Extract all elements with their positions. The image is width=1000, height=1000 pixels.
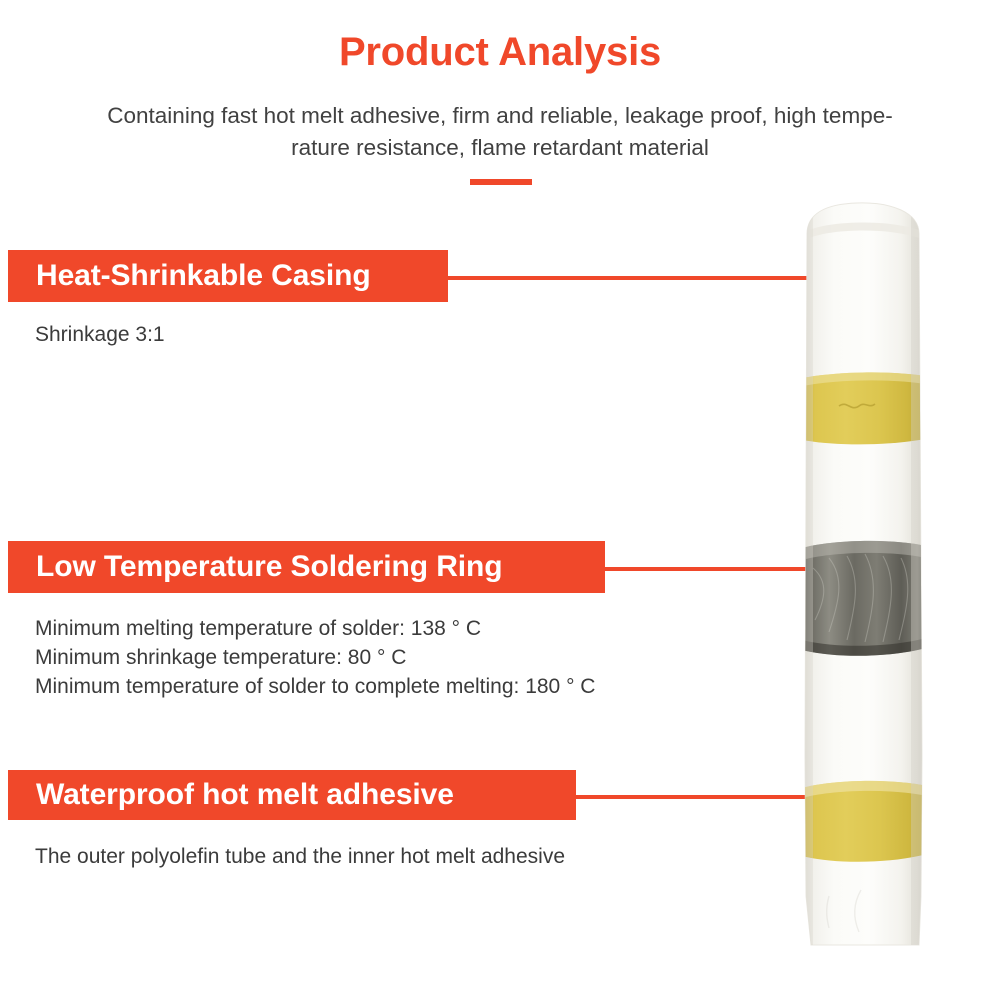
page-title: Product Analysis [0, 27, 1000, 77]
divider-bar [470, 179, 532, 185]
connector-line-casing [448, 276, 848, 280]
callout-label-low-temperature-soldering-ring: Low Temperature Soldering Ring [8, 541, 605, 593]
product-image-heat-shrink-solder-sleeve [795, 196, 945, 951]
subtitle: Containing fast hot melt adhesive, firm … [30, 100, 970, 164]
description-line: Minimum shrinkage temperature: 80 ° C [35, 643, 755, 672]
description-line: The outer polyolefin tube and the inner … [35, 842, 755, 871]
callout-label-text: Heat-Shrinkable Casing [36, 259, 371, 293]
subtitle-line-2: rature resistance, flame retardant mater… [30, 132, 970, 164]
callout-description-casing: Shrinkage 3:1 [35, 320, 555, 349]
infographic-page: Product Analysis Containing fast hot mel… [0, 0, 1000, 1000]
callout-label-waterproof-hot-melt-adhesive: Waterproof hot melt adhesive [8, 770, 576, 820]
callout-description-soldering-ring: Minimum melting temperature of solder: 1… [35, 614, 755, 701]
subtitle-line-1: Containing fast hot melt adhesive, firm … [30, 100, 970, 132]
callout-label-text: Waterproof hot melt adhesive [36, 778, 454, 812]
callout-description-adhesive: The outer polyolefin tube and the inner … [35, 842, 755, 871]
description-line: Shrinkage 3:1 [35, 320, 555, 349]
description-line: Minimum melting temperature of solder: 1… [35, 614, 755, 643]
callout-label-heat-shrinkable-casing: Heat-Shrinkable Casing [8, 250, 448, 302]
description-line: Minimum temperature of solder to complet… [35, 672, 755, 701]
callout-label-text: Low Temperature Soldering Ring [36, 550, 502, 584]
